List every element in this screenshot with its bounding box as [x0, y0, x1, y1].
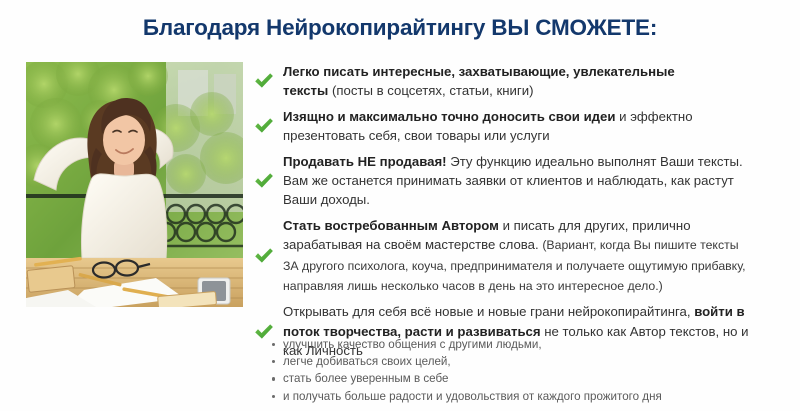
- dot-bullet-icon: [272, 343, 275, 346]
- green-check-icon: [253, 115, 275, 137]
- benefit-item: Стать востребованным Автором и писать дл…: [253, 216, 793, 297]
- benefit-plain: Эту функцию идеально выполнят Ваши текст…: [447, 154, 743, 169]
- benefit-emphasis: войти в: [694, 304, 744, 319]
- benefit-plain: Открывать для себя всё новые и новые гра…: [283, 304, 694, 319]
- sub-list-item: стать более уверенным в себе: [272, 370, 792, 387]
- benefit-plain: направляя лишь несколько часов в день на…: [283, 279, 663, 293]
- benefit-item-text: Изящно и максимально точно доносить свои…: [283, 107, 693, 146]
- benefit-plain: презентовать себя, свои товары или услуг…: [283, 128, 550, 143]
- benefit-line: Изящно и максимально точно доносить свои…: [283, 107, 693, 126]
- sub-list-item: улучшить качество общения с другими людь…: [272, 336, 792, 353]
- sub-list-item-label: легче добиваться своих целей,: [283, 355, 451, 368]
- dot-bullet-icon: [272, 377, 275, 380]
- benefit-line: зарабатывая на своём мастерстве слова. (…: [283, 235, 746, 255]
- benefit-plain: Ваши доходы.: [283, 192, 370, 207]
- sub-list-item: легче добиваться своих целей,: [272, 353, 792, 370]
- benefit-emphasis: Продавать НЕ продавая!: [283, 154, 447, 169]
- benefit-item-text: Продавать НЕ продавая! Эту функцию идеал…: [283, 152, 743, 210]
- benefit-plain: (посты в соцсетях, статьи, книги): [332, 83, 534, 98]
- benefit-line: Продавать НЕ продавая! Эту функцию идеал…: [283, 152, 743, 171]
- promo-page: Благодаря Нейрокопирайтингу ВЫ СМОЖЕТЕ:: [0, 0, 800, 411]
- green-check-icon: [253, 170, 275, 192]
- sub-list-item-label: и получать больше радости и удовольствия…: [283, 390, 662, 403]
- benefit-line: Открывать для себя всё новые и новые гра…: [283, 302, 748, 321]
- benefits-list: Легко писать интересные, захватывающие, …: [253, 62, 793, 367]
- sub-list-item-label: улучшить качество общения с другими людь…: [283, 338, 542, 351]
- benefit-emphasis: Стать востребованным Автором: [283, 218, 499, 233]
- benefit-line: презентовать себя, свои товары или услуг…: [283, 126, 693, 145]
- benefit-line: Вам же останется принимать заявки от кли…: [283, 171, 743, 190]
- benefit-emphasis: тексты: [283, 83, 332, 98]
- benefit-line: тексты (посты в соцсетях, статьи, книги): [283, 81, 675, 100]
- page-title: Благодаря Нейрокопирайтингу ВЫ СМОЖЕТЕ:: [0, 14, 800, 41]
- benefit-plain: (Вариант, когда Вы пишите тексты: [542, 238, 738, 252]
- benefit-line: Ваши доходы.: [283, 190, 743, 209]
- benefit-item-text: Легко писать интересные, захватывающие, …: [283, 62, 675, 101]
- benefit-plain: и писать для других, прилично: [499, 218, 691, 233]
- sub-list-item: и получать больше радости и удовольствия…: [272, 388, 792, 405]
- benefit-item: Легко писать интересные, захватывающие, …: [253, 62, 793, 101]
- benefit-item-text: Стать востребованным Автором и писать дл…: [283, 216, 746, 297]
- green-check-icon: [253, 245, 275, 267]
- benefit-plain: зарабатывая на своём мастерстве слова.: [283, 237, 542, 252]
- benefit-line: Легко писать интересные, захватывающие, …: [283, 62, 675, 81]
- dot-bullet-icon: [272, 395, 275, 398]
- green-check-icon: [253, 70, 275, 92]
- sub-benefits-list: улучшить качество общения с другими людь…: [272, 336, 792, 405]
- benefit-line: ЗА другого психолога, коуча, предпринима…: [283, 256, 746, 276]
- dot-bullet-icon: [272, 360, 275, 363]
- benefit-plain: Вам же останется принимать заявки от кли…: [283, 173, 734, 188]
- benefit-emphasis: Легко писать интересные, захватывающие, …: [283, 64, 675, 79]
- benefit-item: Изящно и максимально точно доносить свои…: [253, 107, 793, 146]
- benefit-plain: ЗА другого психолога, коуча, предпринима…: [283, 259, 746, 273]
- benefit-plain: и эффектно: [616, 109, 693, 124]
- benefit-emphasis: Изящно и максимально точно доносить свои…: [283, 109, 616, 124]
- hero-photo: [26, 62, 243, 307]
- benefit-line: направляя лишь несколько часов в день на…: [283, 276, 746, 296]
- sub-list-item-label: стать более уверенным в себе: [283, 372, 448, 385]
- benefit-line: Стать востребованным Автором и писать дл…: [283, 216, 746, 235]
- photo-woman-relaxing: [26, 62, 243, 307]
- benefit-item: Продавать НЕ продавая! Эту функцию идеал…: [253, 152, 793, 210]
